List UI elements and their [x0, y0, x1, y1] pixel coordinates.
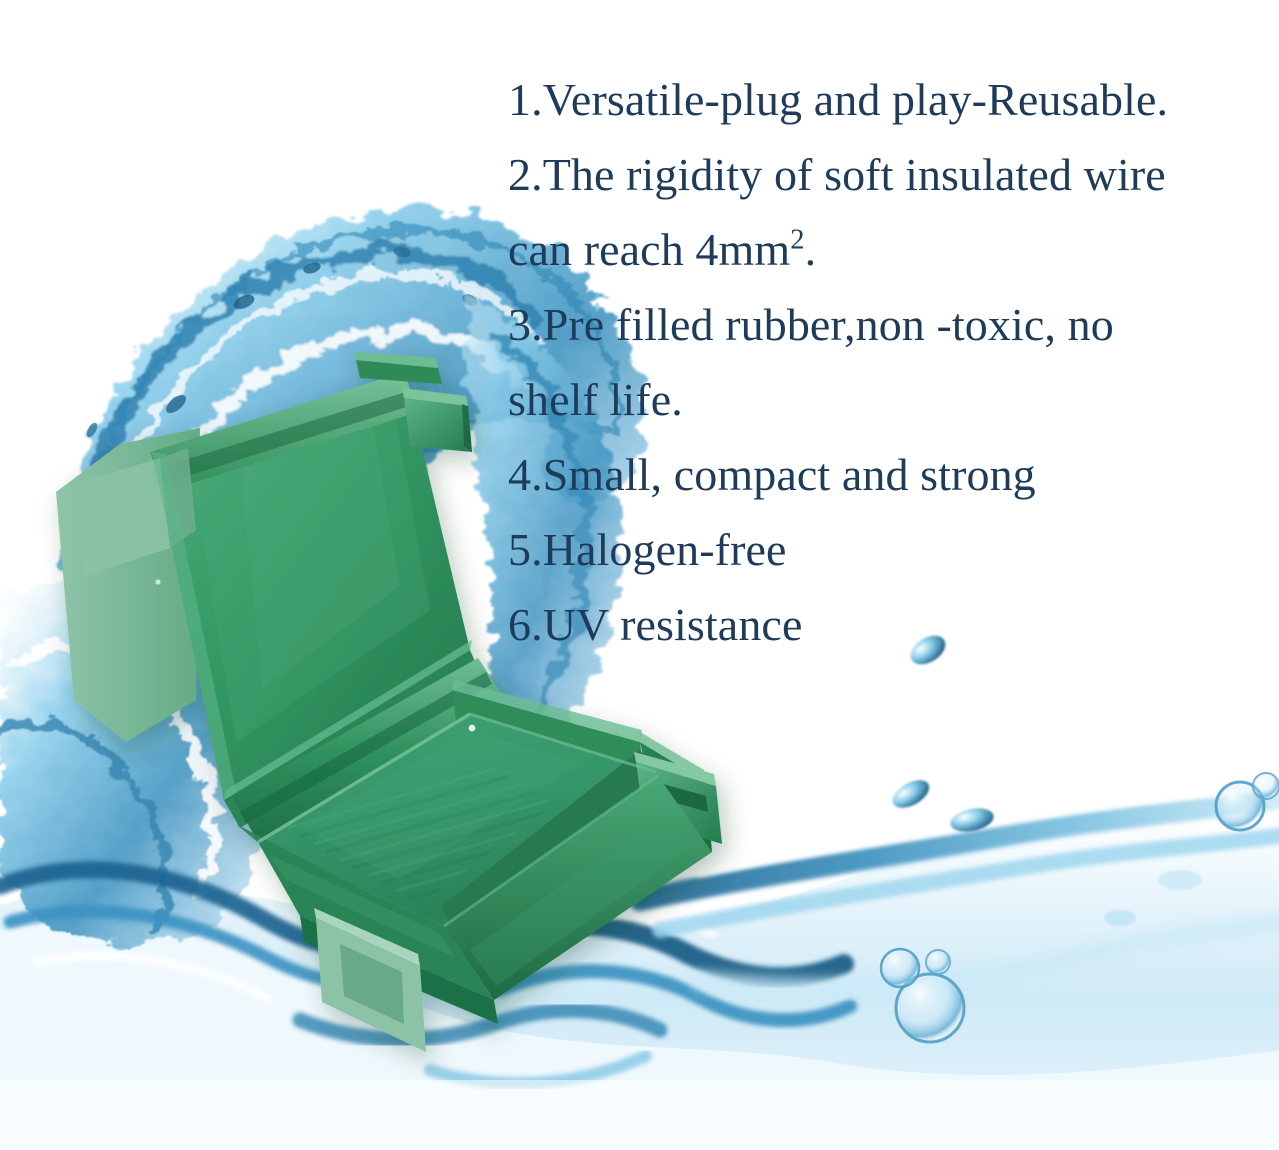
feature-item-2-cont-text: can reach 4mm	[508, 224, 790, 275]
product-feature-banner: 1.Versatile-plug and play-Reusable. 2.Th…	[0, 0, 1279, 1150]
feature-item-1: 1.Versatile-plug and play-Reusable.	[508, 62, 1268, 137]
feature-list: 1.Versatile-plug and play-Reusable. 2.Th…	[508, 62, 1268, 662]
feature-item-2: 2.The rigidity of soft insulated wire	[508, 137, 1268, 212]
feature-item-6: 6.UV resistance	[508, 587, 1268, 662]
feature-item-2-superscript: 2	[790, 225, 804, 256]
tray-pin-dot	[469, 725, 476, 732]
feature-item-3: 3.Pre filled rubber,non -toxic, no	[508, 287, 1268, 362]
lid-latch-tab	[404, 398, 472, 452]
feature-item-4: 4.Small, compact and strong	[508, 437, 1268, 512]
lid-pin-dot	[155, 579, 160, 584]
feature-item-3-cont: shelf life.	[508, 362, 1268, 437]
feature-item-5: 5.Halogen-free	[508, 512, 1268, 587]
feature-item-2-cont: can reach 4mm2.	[508, 212, 1268, 287]
feature-item-2-cont-tail: .	[805, 224, 817, 275]
